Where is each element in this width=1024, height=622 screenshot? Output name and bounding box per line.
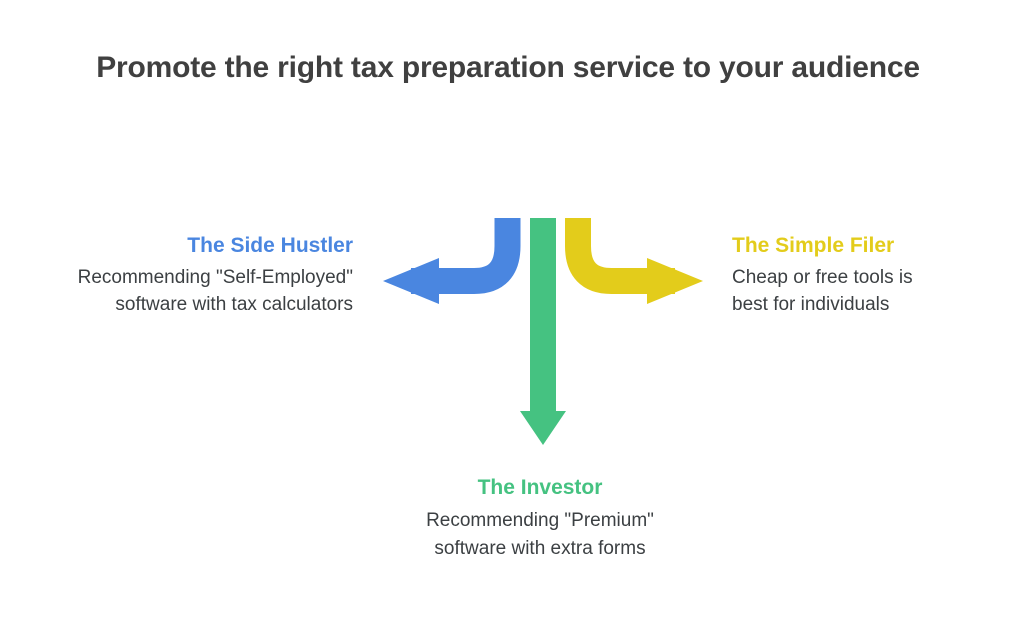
branch-heading-simple-filer: The Simple Filer <box>732 233 1022 259</box>
branch-desc-line-1: Recommending "Premium" <box>345 507 735 535</box>
branch-simple-filer: The Simple Filer Cheap or free tools is … <box>732 233 1022 319</box>
straight-down-arrow-icon <box>520 218 566 445</box>
branch-side-hustler: The Side Hustler Recommending "Self-Empl… <box>8 233 353 319</box>
branch-desc-line-2: software with tax calculators <box>8 292 353 319</box>
branch-desc-line-2: software with extra forms <box>345 535 735 563</box>
branch-description-simple-filer: Cheap or free tools is best for individu… <box>732 265 1022 319</box>
branch-heading-side-hustler: The Side Hustler <box>8 233 353 259</box>
branch-desc-line-1: Recommending "Self-Employed" <box>8 265 353 292</box>
diagram-canvas: Promote the right tax preparation servic… <box>0 0 1024 622</box>
curved-left-arrow-icon <box>383 218 508 304</box>
branch-description-investor: Recommending "Premium" software with ext… <box>345 507 735 562</box>
page-title: Promote the right tax preparation servic… <box>0 50 1024 86</box>
branch-investor: The Investor Recommending "Premium" soft… <box>345 475 735 562</box>
branch-description-side-hustler: Recommending "Self-Employed" software wi… <box>8 265 353 319</box>
curved-right-arrow-icon <box>578 218 703 304</box>
branch-desc-line-1: Cheap or free tools is <box>732 265 1022 292</box>
branch-desc-line-2: best for individuals <box>732 292 1022 319</box>
branch-heading-investor: The Investor <box>345 475 735 501</box>
